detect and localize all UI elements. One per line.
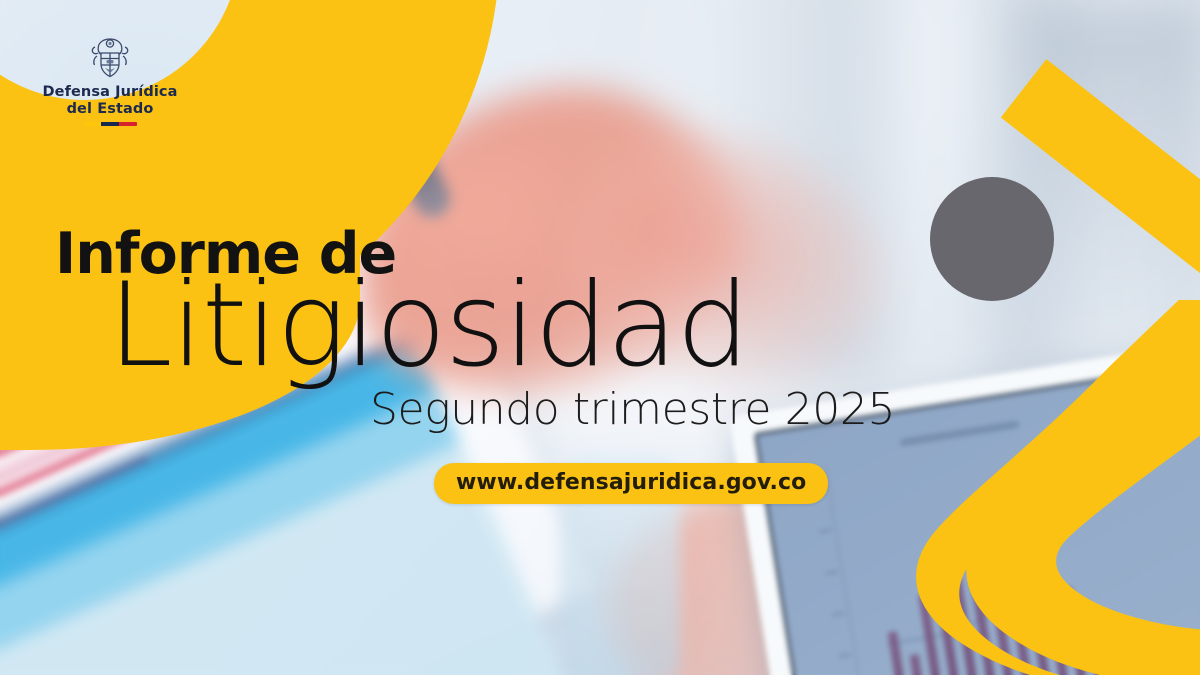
- logo-name-line1: Defensa Jurídica: [43, 84, 178, 100]
- cover-subtitle: Segundo trimestre 2025: [370, 388, 895, 432]
- chart-y-tick: [819, 529, 831, 533]
- brand-logo: Defensa Jurídica del Estado: [30, 34, 190, 126]
- logo-organization-name: Defensa Jurídica del Estado: [30, 84, 190, 117]
- report-cover: Defensa Jurídica del Estado Informe de L…: [0, 0, 1200, 675]
- cover-headline: Litigiosidad: [108, 268, 748, 384]
- colombia-coat-of-arms-icon: [88, 34, 132, 80]
- flag-bar-red: [119, 122, 137, 126]
- flag-bar-yellow: [83, 122, 101, 126]
- website-url-badge[interactable]: www.defensajuridica.gov.co: [434, 463, 828, 504]
- chart-y-tick: [826, 571, 838, 575]
- yellow-s-ribbon-shape: [880, 300, 1200, 675]
- colombia-flag-bar-icon: [83, 122, 137, 126]
- chart-y-tick: [839, 654, 851, 658]
- flag-bar-blue: [101, 122, 119, 126]
- logo-name-line2: del Estado: [67, 101, 154, 117]
- chart-y-tick: [832, 612, 844, 616]
- grey-circle-shape: [930, 177, 1054, 301]
